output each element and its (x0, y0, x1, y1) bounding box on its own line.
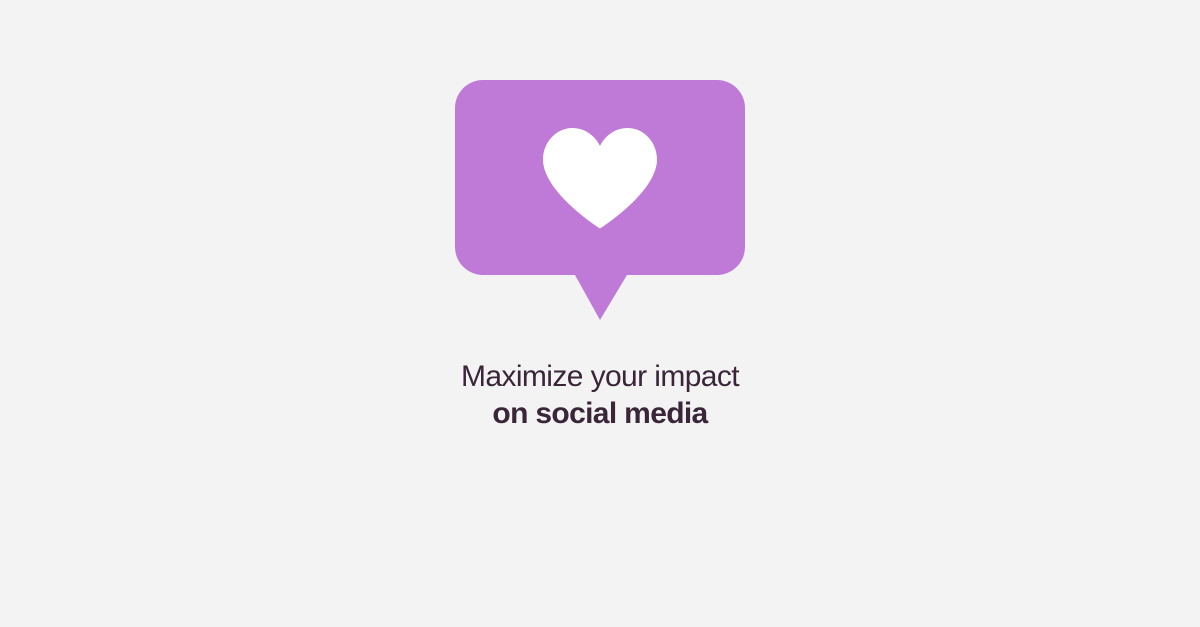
speech-bubble-icon (455, 80, 745, 320)
like-bubble-graphic (0, 80, 1200, 320)
headline-line-2: on social media (0, 395, 1200, 432)
headline-line-1: Maximize your impact (0, 358, 1200, 395)
banner-canvas: Maximize your impact on social media (0, 0, 1200, 627)
headline: Maximize your impact on social media (0, 358, 1200, 432)
